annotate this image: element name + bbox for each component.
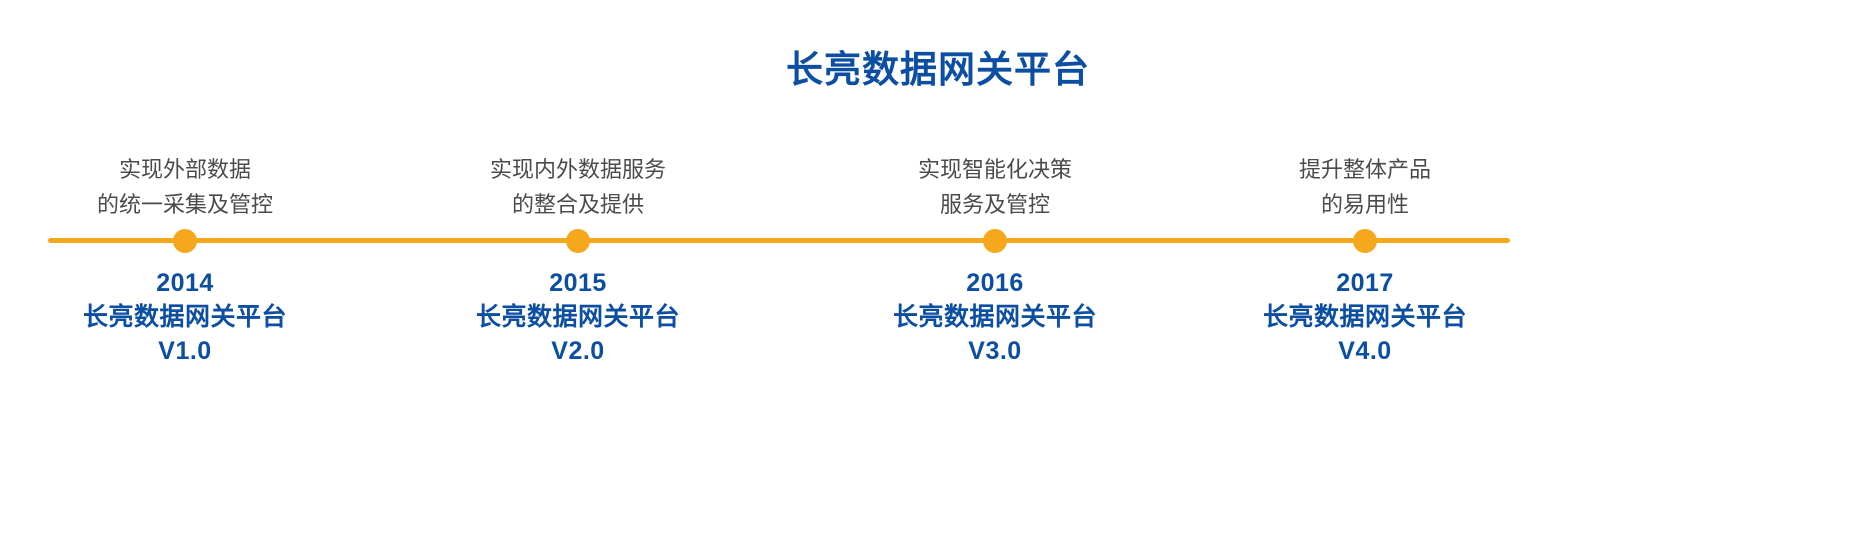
milestone-year: 2016: [825, 266, 1165, 300]
timeline-dot-icon: [983, 229, 1007, 253]
milestone-label: 2015 长亮数据网关平台 V2.0: [408, 266, 748, 368]
milestone-product-name: 长亮数据网关平台: [825, 300, 1165, 334]
milestone-label: 2016 长亮数据网关平台 V3.0: [825, 266, 1165, 368]
milestone-description-line1: 实现外部数据: [15, 152, 355, 187]
milestone-description: 提升整体产品 的易用性: [1195, 152, 1535, 222]
milestone-description: 实现外部数据 的统一采集及管控: [15, 152, 355, 222]
milestone-description-line2: 服务及管控: [825, 187, 1165, 222]
milestone-description: 实现内外数据服务 的整合及提供: [408, 152, 748, 222]
milestone-product-name: 长亮数据网关平台: [1195, 300, 1535, 334]
milestone-description-line2: 的易用性: [1195, 187, 1535, 222]
milestone-version: V4.0: [1195, 334, 1535, 368]
milestone-product-name: 长亮数据网关平台: [15, 300, 355, 334]
milestone-year: 2017: [1195, 266, 1535, 300]
milestone-2017: 提升整体产品 的易用性 2017 长亮数据网关平台 V4.0: [1195, 0, 1535, 541]
milestone-2015: 实现内外数据服务 的整合及提供 2015 长亮数据网关平台 V2.0: [408, 0, 748, 541]
timeline-diagram: 长亮数据网关平台 实现外部数据 的统一采集及管控 2014 长亮数据网关平台 V…: [0, 0, 1876, 541]
milestone-version: V3.0: [825, 334, 1165, 368]
timeline-dot-icon: [173, 229, 197, 253]
milestone-label: 2014 长亮数据网关平台 V1.0: [15, 266, 355, 368]
milestone-description-line2: 的统一采集及管控: [15, 187, 355, 222]
milestone-product-name: 长亮数据网关平台: [408, 300, 748, 334]
timeline-dot-icon: [566, 229, 590, 253]
milestone-description-line1: 实现内外数据服务: [408, 152, 748, 187]
milestone-year: 2014: [15, 266, 355, 300]
milestone-description-line1: 提升整体产品: [1195, 152, 1535, 187]
timeline-dot-icon: [1353, 229, 1377, 253]
milestone-description: 实现智能化决策 服务及管控: [825, 152, 1165, 222]
milestone-description-line1: 实现智能化决策: [825, 152, 1165, 187]
milestone-year: 2015: [408, 266, 748, 300]
milestone-2016: 实现智能化决策 服务及管控 2016 长亮数据网关平台 V3.0: [825, 0, 1165, 541]
milestone-version: V2.0: [408, 334, 748, 368]
milestone-description-line2: 的整合及提供: [408, 187, 748, 222]
milestone-version: V1.0: [15, 334, 355, 368]
timeline-milestones: 实现外部数据 的统一采集及管控 2014 长亮数据网关平台 V1.0 实现内外数…: [0, 0, 1876, 541]
milestone-2014: 实现外部数据 的统一采集及管控 2014 长亮数据网关平台 V1.0: [15, 0, 355, 541]
milestone-label: 2017 长亮数据网关平台 V4.0: [1195, 266, 1535, 368]
